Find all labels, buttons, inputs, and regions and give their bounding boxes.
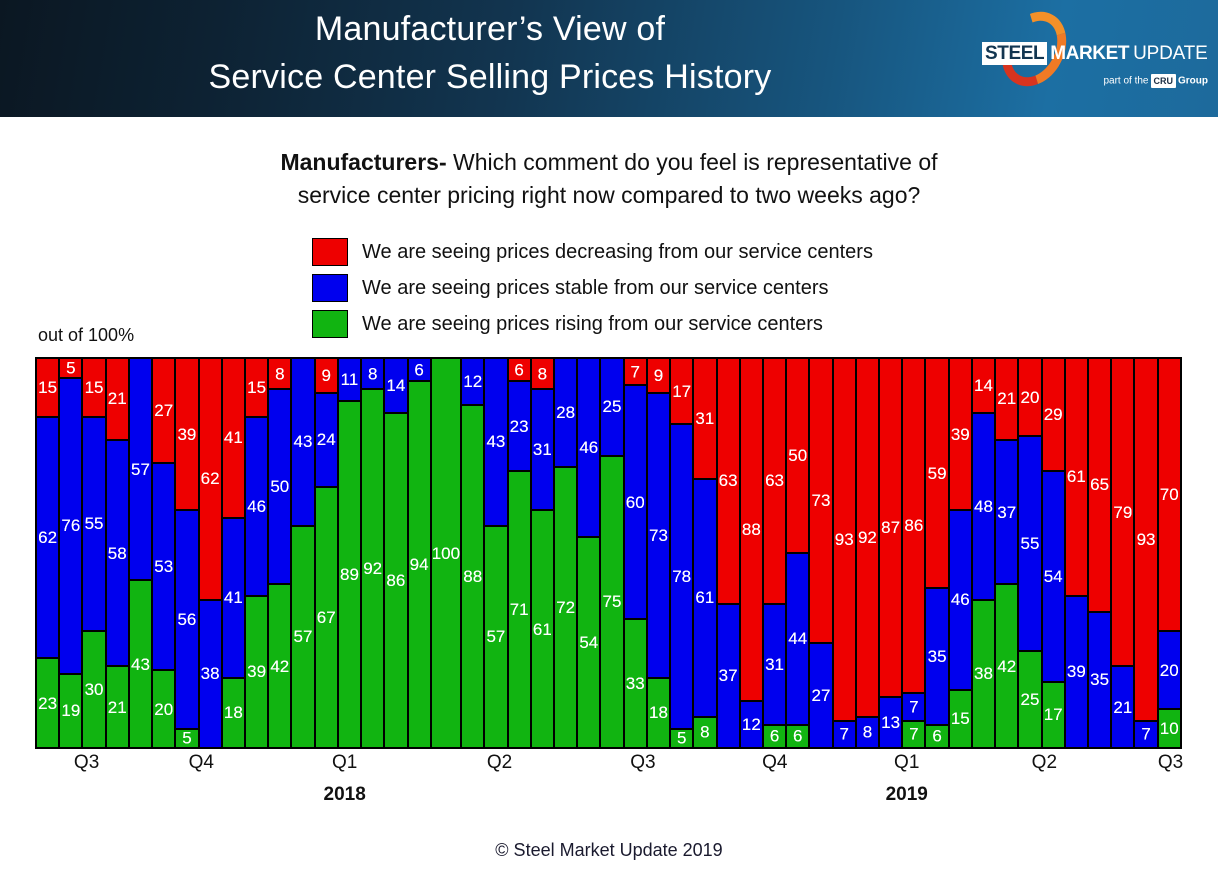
bar-segment-decreasing: 8: [268, 358, 291, 389]
bar-value-label: 21: [1113, 699, 1132, 716]
x-axis-tick-1: Q4: [189, 752, 214, 774]
x-axis-tick-4: Q3: [630, 752, 655, 774]
bar-value-label: 14: [386, 377, 405, 394]
bar-value-label: 73: [649, 527, 668, 544]
x-axis-ticks: Q3Q4Q1Q2Q3Q4Q1Q2Q3: [35, 752, 1182, 782]
bar-segment-decreasing: 20: [1018, 358, 1041, 436]
bar-segment-rising: 75: [600, 456, 623, 749]
bar-segment-decreasing: 6: [508, 358, 531, 381]
logo-wordmark: STEELMARKETUPDATE: [982, 42, 1212, 68]
bar-value-label: 42: [270, 658, 289, 675]
bar-value-label: 41: [224, 429, 243, 446]
bar-value-label: 58: [108, 545, 127, 562]
bar-segment-stable: 24: [315, 393, 338, 487]
bar-value-label: 7: [839, 726, 848, 743]
bar-segment-rising: 57: [291, 526, 314, 748]
bar-segment-stable: 53: [152, 463, 175, 670]
bar-value-label: 23: [38, 695, 57, 712]
table-row[interactable]: 83161: [531, 358, 554, 748]
bar-value-label: 11: [341, 371, 359, 388]
bar-value-label: 21: [108, 699, 127, 716]
bar-value-label: 9: [322, 367, 331, 384]
bar-segment-stable: 44: [786, 553, 809, 725]
table-row[interactable]: 1288: [461, 358, 484, 748]
bar-segment-rising: 5: [670, 729, 693, 749]
bar-segment-decreasing: 29: [1042, 358, 1065, 471]
table-row[interactable]: 295417: [1042, 358, 1065, 748]
bar-value-label: 13: [881, 714, 900, 731]
table-row[interactable]: 2575: [600, 358, 623, 748]
legend-label-stable: We are seeing prices stable from our ser…: [362, 277, 829, 300]
bar-segment-decreasing: 88: [740, 358, 763, 701]
bar-segment-stable: 12: [461, 358, 484, 405]
bar-value-label: 18: [649, 704, 668, 721]
page-header: Manufacturer’s View of Service Center Se…: [0, 0, 1218, 117]
bar-segment-rising: 10: [1158, 709, 1181, 748]
bar-value-label: 57: [131, 461, 150, 478]
table-row[interactable]: 50446: [786, 358, 809, 748]
logo-sub-suffix: Group: [1178, 76, 1208, 87]
bar-value-label: 38: [201, 665, 220, 682]
bar-segment-stable: 28: [554, 358, 577, 467]
table-row[interactable]: 6535: [1088, 358, 1111, 748]
bar-value-label: 89: [340, 566, 359, 583]
bar-segment-decreasing: 27: [152, 358, 175, 463]
bar-segment-decreasing: 9: [647, 358, 670, 393]
bar-segment-decreasing: 87: [879, 358, 902, 697]
bar-segment-decreasing: 59: [925, 358, 948, 588]
bar-value-label: 8: [863, 724, 872, 741]
bar-value-label: 65: [1090, 476, 1109, 493]
table-row[interactable]: 1486: [384, 358, 407, 748]
bar-segment-stable: 46: [949, 510, 972, 689]
bar-value-label: 27: [154, 402, 173, 419]
table-row[interactable]: 31618: [693, 358, 716, 748]
table-row[interactable]: 63316: [763, 358, 786, 748]
bar-segment-stable: 54: [1042, 471, 1065, 682]
table-row[interactable]: 7921: [1111, 358, 1134, 748]
bar-value-label: 86: [386, 572, 405, 589]
x-axis-year-2019: 2019: [886, 784, 928, 806]
bar-segment-stable: 73: [647, 393, 670, 678]
bar-segment-decreasing: 79: [1111, 358, 1134, 666]
bar-segment-decreasing: 8: [531, 358, 554, 389]
bar-value-label: 63: [719, 472, 738, 489]
question-line2: service center pricing right now compare…: [0, 179, 1218, 212]
bar-segment-stable: 46: [577, 358, 600, 537]
page-title-line2: Service Center Selling Prices History: [0, 54, 980, 102]
bar-segment-decreasing: 7: [624, 358, 647, 385]
bar-value-label: 92: [363, 560, 382, 577]
bar-segment-decreasing: 21: [106, 358, 129, 440]
bar-value-label: 76: [61, 517, 80, 534]
legend-swatch-decreasing-icon: [312, 238, 348, 266]
table-row[interactable]: 6337: [717, 358, 740, 748]
bar-value-label: 20: [154, 701, 173, 718]
x-axis-tick-3: Q2: [487, 752, 512, 774]
table-row[interactable]: 8812: [740, 358, 763, 748]
bar-value-label: 20: [1160, 662, 1179, 679]
bar-value-label: 31: [533, 441, 552, 458]
bar-value-label: 67: [317, 609, 336, 626]
bar-segment-rising: 92: [361, 389, 384, 748]
bar-segment-decreasing: 17: [670, 358, 693, 424]
bar-segment-rising: 100: [431, 358, 461, 748]
bar-value-label: 35: [928, 648, 947, 665]
bar-value-label: 10: [1160, 720, 1179, 737]
bar-segment-decreasing: 5: [59, 358, 82, 378]
bar-value-label: 71: [510, 601, 529, 618]
bar-segment-decreasing: 41: [222, 358, 245, 518]
bar-value-label: 12: [463, 373, 482, 390]
table-row[interactable]: 8713: [879, 358, 902, 748]
bar-value-label: 55: [85, 515, 104, 532]
bar-segment-stable: 56: [175, 510, 198, 728]
table-row[interactable]: 92467: [315, 358, 338, 748]
bar-value-label: 73: [812, 492, 831, 509]
table-row[interactable]: 7327: [809, 358, 832, 748]
bar-value-label: 43: [131, 656, 150, 673]
bar-value-label: 75: [603, 593, 622, 610]
bar-value-label: 53: [154, 558, 173, 575]
bar-segment-rising: 20: [152, 670, 175, 748]
bar-segment-rising: 18: [647, 678, 670, 748]
bar-value-label: 8: [275, 365, 284, 382]
logo-sub-prefix: part of the: [1103, 76, 1148, 87]
table-row[interactable]: 4654: [577, 358, 600, 748]
bar-segment-decreasing: 15: [245, 358, 268, 417]
bar-value-label: 15: [38, 379, 57, 396]
bar-segment-decreasing: 62: [199, 358, 222, 600]
bar-value-label: 55: [1020, 535, 1039, 552]
bar-segment-decreasing: 73: [809, 358, 832, 643]
bar-value-label: 6: [932, 728, 941, 745]
bar-value-label: 39: [1067, 663, 1086, 680]
bar-value-label: 87: [881, 519, 900, 536]
bar-value-label: 28: [556, 404, 575, 421]
bar-value-label: 57: [486, 628, 505, 645]
table-row[interactable]: 892: [361, 358, 384, 748]
table-row[interactable]: 4357: [484, 358, 507, 748]
bar-value-label: 25: [1020, 691, 1039, 708]
bar-value-label: 35: [1090, 671, 1109, 688]
bar-value-label: 93: [1137, 531, 1156, 548]
bar-value-label: 39: [247, 663, 266, 680]
bar-value-label: 63: [765, 472, 784, 489]
bar-value-label: 25: [603, 398, 622, 415]
bar-segment-rising: 5: [175, 729, 198, 749]
bar-segment-stable: 31: [763, 604, 786, 725]
logo-subtitle: part of theCRUGroup: [1103, 74, 1208, 89]
bar-value-label: 92: [858, 529, 877, 546]
bar-segment-stable: 21: [1111, 666, 1134, 748]
bar-segment-stable: 57: [129, 358, 152, 580]
table-row[interactable]: 1189: [338, 358, 361, 748]
bar-value-label: 17: [1044, 706, 1063, 723]
bar-value-label: 94: [410, 556, 429, 573]
page-title-line1: Manufacturer’s View of: [0, 6, 980, 54]
bar-value-label: 7: [631, 363, 640, 380]
table-row[interactable]: 2872: [554, 358, 577, 748]
bar-segment-rising: 17: [1042, 682, 1065, 748]
x-axis-tick-7: Q2: [1032, 752, 1057, 774]
table-row[interactable]: 213742: [995, 358, 1018, 748]
bar-value-label: 8: [368, 365, 377, 382]
bar-value-label: 24: [317, 431, 336, 448]
bar-value-label: 39: [951, 426, 970, 443]
bar-segment-stable: 25: [600, 358, 623, 456]
bar-segment-stable: 13: [879, 697, 902, 748]
table-row[interactable]: 85042: [268, 358, 291, 748]
bar-segment-decreasing: 21: [995, 358, 1018, 440]
bar-segment-stable: 35: [925, 588, 948, 725]
bar-value-label: 30: [85, 681, 104, 698]
legend-label-rising: We are seeing prices rising from our ser…: [362, 313, 823, 336]
bar-value-label: 62: [38, 529, 57, 546]
bar-segment-stable: 43: [484, 358, 507, 526]
legend-swatch-stable-icon: [312, 274, 348, 302]
table-row[interactable]: 394615: [949, 358, 972, 748]
logo-market-text: MARKET: [1050, 43, 1129, 65]
table-row[interactable]: 937: [1134, 358, 1157, 748]
table-row[interactable]: 205525: [1018, 358, 1041, 748]
bar-segment-stable: 14: [384, 358, 407, 413]
bar-value-label: 8: [700, 724, 709, 741]
table-row[interactable]: 76033: [624, 358, 647, 748]
bar-segment-decreasing: 14: [972, 358, 995, 413]
bar-value-label: 17: [672, 383, 691, 400]
bar-value-label: 46: [247, 498, 266, 515]
bar-value-label: 21: [108, 390, 127, 407]
bar-segment-rising: 43: [129, 580, 152, 748]
bar-segment-stable: 58: [106, 440, 129, 666]
bar-segment-rising: 42: [268, 584, 291, 748]
table-row[interactable]: 8677: [902, 358, 925, 748]
bar-segment-decreasing: 70: [1158, 358, 1181, 631]
bar-segment-rising: 86: [384, 413, 407, 748]
bar-segment-rising: 61: [531, 510, 554, 748]
bar-value-label: 86: [904, 517, 923, 534]
bar-value-label: 33: [626, 675, 645, 692]
bar-segment-decreasing: 31: [693, 358, 716, 479]
bar-segment-rising: 6: [786, 725, 809, 748]
bar-value-label: 37: [997, 504, 1016, 521]
bar-segment-rising: 67: [315, 487, 338, 748]
stacked-bar-series: 1562235761915553021582157432753203956562…: [36, 358, 1181, 748]
table-row[interactable]: 144838: [972, 358, 995, 748]
bar-value-label: 93: [835, 531, 854, 548]
bar-value-label: 9: [654, 367, 663, 384]
bar-value-label: 14: [974, 377, 993, 394]
bar-value-label: 6: [514, 361, 523, 378]
bar-value-label: 19: [61, 702, 80, 719]
copyright-footer: © Steel Market Update 2019: [0, 840, 1218, 861]
cru-badge: CRU: [1151, 74, 1177, 88]
bar-segment-stable: 11: [338, 358, 361, 401]
table-row[interactable]: 4357: [291, 358, 314, 748]
legend-label-decreasing: We are seeing prices decreasing from our…: [362, 241, 873, 264]
bar-value-label: 54: [1044, 568, 1063, 585]
bar-segment-stable: 60: [624, 385, 647, 619]
bar-value-label: 6: [770, 728, 779, 745]
bar-segment-decreasing: 92: [856, 358, 879, 717]
bar-value-label: 59: [928, 465, 947, 482]
bar-segment-rising: 89: [338, 401, 361, 748]
table-row[interactable]: 937: [833, 358, 856, 748]
bar-segment-stable: 37: [995, 440, 1018, 584]
bar-segment-stable: 7: [833, 721, 856, 748]
table-row[interactable]: 6238: [199, 358, 222, 748]
bar-segment-stable: 8: [361, 358, 384, 389]
bar-value-label: 50: [270, 478, 289, 495]
chart-plot-area: 1562235761915553021582157432753203956562…: [35, 357, 1182, 749]
bar-segment-stable: 41: [222, 518, 245, 678]
bar-segment-stable: 48: [972, 413, 995, 600]
bar-value-label: 50: [788, 447, 807, 464]
legend-swatch-rising-icon: [312, 310, 348, 338]
chart-legend: We are seeing prices decreasing from our…: [312, 234, 1032, 342]
bar-value-label: 21: [997, 390, 1016, 407]
table-row[interactable]: 100: [431, 358, 461, 748]
bar-segment-decreasing: 65: [1088, 358, 1111, 612]
bar-value-label: 48: [974, 498, 993, 515]
bar-value-label: 27: [812, 687, 831, 704]
table-row[interactable]: 155530: [82, 358, 105, 748]
bar-value-label: 39: [177, 426, 196, 443]
bar-segment-decreasing: 61: [1065, 358, 1088, 596]
x-axis-tick-8: Q3: [1158, 752, 1183, 774]
bar-segment-decreasing: 63: [717, 358, 740, 604]
table-row[interactable]: 156223: [36, 358, 59, 748]
legend-item-stable[interactable]: We are seeing prices stable from our ser…: [312, 270, 1032, 306]
bar-value-label: 44: [788, 630, 807, 647]
bar-segment-stable: 7: [1134, 721, 1157, 748]
bar-value-label: 54: [579, 634, 598, 651]
bar-value-label: 15: [951, 710, 970, 727]
bar-segment-decreasing: 39: [949, 358, 972, 510]
legend-item-decreasing[interactable]: We are seeing prices decreasing from our…: [312, 234, 1032, 270]
bar-value-label: 61: [1067, 468, 1086, 485]
bar-segment-stable: 35: [1088, 612, 1111, 749]
bar-segment-rising: 8: [693, 717, 716, 748]
bar-value-label: 42: [997, 658, 1016, 675]
bar-segment-rising: 23: [36, 658, 59, 748]
table-row[interactable]: 6139: [1065, 358, 1088, 748]
bar-value-label: 7: [909, 726, 918, 743]
table-row[interactable]: 154639: [245, 358, 268, 748]
table-row[interactable]: 17785: [670, 358, 693, 748]
steel-market-update-logo: STEELMARKETUPDATE part of theCRUGroup: [982, 8, 1212, 108]
bar-segment-rising: 7: [902, 721, 925, 748]
bar-segment-rising: 71: [508, 471, 531, 748]
bar-segment-rising: 88: [461, 405, 484, 748]
table-row[interactable]: 97318: [647, 358, 670, 748]
question-bold-lead: Manufacturers-: [280, 149, 446, 175]
table-row[interactable]: 694: [408, 358, 431, 748]
table-row[interactable]: 57619: [59, 358, 82, 748]
bar-value-label: 23: [510, 418, 529, 435]
bar-value-label: 46: [579, 439, 598, 456]
table-row[interactable]: 215821: [106, 358, 129, 748]
table-row[interactable]: 59356: [925, 358, 948, 748]
bar-value-label: 37: [719, 667, 738, 684]
y-axis-note: out of 100%: [38, 325, 134, 346]
bar-value-label: 6: [793, 728, 802, 745]
bar-segment-stable: 37: [717, 604, 740, 748]
bar-segment-stable: 78: [670, 424, 693, 728]
bar-segment-rising: 25: [1018, 651, 1041, 749]
table-row[interactable]: 5743: [129, 358, 152, 748]
bar-value-label: 5: [182, 730, 191, 747]
x-axis-tick-2: Q1: [332, 752, 357, 774]
bar-value-label: 5: [66, 359, 75, 376]
bar-value-label: 70: [1160, 486, 1179, 503]
bar-segment-stable: 31: [531, 389, 554, 510]
bar-segment-rising: 42: [995, 584, 1018, 748]
bar-value-label: 31: [765, 656, 784, 673]
bar-segment-stable: 55: [82, 417, 105, 632]
bar-segment-decreasing: 93: [1134, 358, 1157, 721]
bar-value-label: 88: [742, 521, 761, 538]
x-axis-tick-5: Q4: [762, 752, 787, 774]
bar-segment-stable: 6: [408, 358, 431, 381]
bar-value-label: 5: [677, 730, 686, 747]
bar-value-label: 8: [538, 365, 547, 382]
bar-value-label: 7: [1141, 726, 1150, 743]
bar-segment-rising: 94: [408, 381, 431, 748]
bar-segment-rising: 39: [245, 596, 268, 748]
bar-value-label: 38: [974, 665, 993, 682]
x-axis-year-labels: 20182019: [35, 784, 1182, 810]
bar-value-label: 62: [201, 470, 220, 487]
bar-segment-rising: 54: [577, 537, 600, 748]
bar-segment-rising: 15: [949, 690, 972, 749]
bar-value-label: 56: [177, 611, 196, 628]
legend-item-rising[interactable]: We are seeing prices rising from our ser…: [312, 306, 1032, 342]
bar-value-label: 41: [224, 589, 243, 606]
x-axis-tick-6: Q1: [894, 752, 919, 774]
bar-segment-rising: 6: [925, 725, 948, 748]
bar-segment-stable: 55: [1018, 436, 1041, 651]
bar-segment-decreasing: 63: [763, 358, 786, 604]
page-title: Manufacturer’s View of Service Center Se…: [0, 6, 980, 101]
bar-value-label: 7: [909, 699, 918, 716]
logo-update-text: UPDATE: [1133, 43, 1207, 65]
bar-segment-rising: 6: [763, 725, 786, 748]
bar-segment-stable: 12: [740, 701, 763, 748]
bar-segment-stable: 8: [856, 717, 879, 748]
bar-value-label: 43: [486, 433, 505, 450]
table-row[interactable]: 414118: [222, 358, 245, 748]
bar-value-label: 78: [672, 568, 691, 585]
bar-segment-decreasing: 86: [902, 358, 925, 693]
table-row[interactable]: 62371: [508, 358, 531, 748]
table-row[interactable]: 702010: [1158, 358, 1181, 748]
bar-value-label: 6: [414, 361, 423, 378]
table-row[interactable]: 39565: [175, 358, 198, 748]
bar-segment-stable: 27: [809, 643, 832, 748]
table-row[interactable]: 275320: [152, 358, 175, 748]
bar-segment-decreasing: 93: [833, 358, 856, 721]
table-row[interactable]: 928: [856, 358, 879, 748]
bar-value-label: 18: [224, 704, 243, 721]
bar-value-label: 46: [951, 591, 970, 608]
bar-segment-stable: 20: [1158, 631, 1181, 709]
bar-segment-decreasing: 15: [82, 358, 105, 417]
bar-segment-stable: 7: [902, 693, 925, 720]
bar-segment-decreasing: 50: [786, 358, 809, 553]
bar-value-label: 12: [742, 716, 761, 733]
